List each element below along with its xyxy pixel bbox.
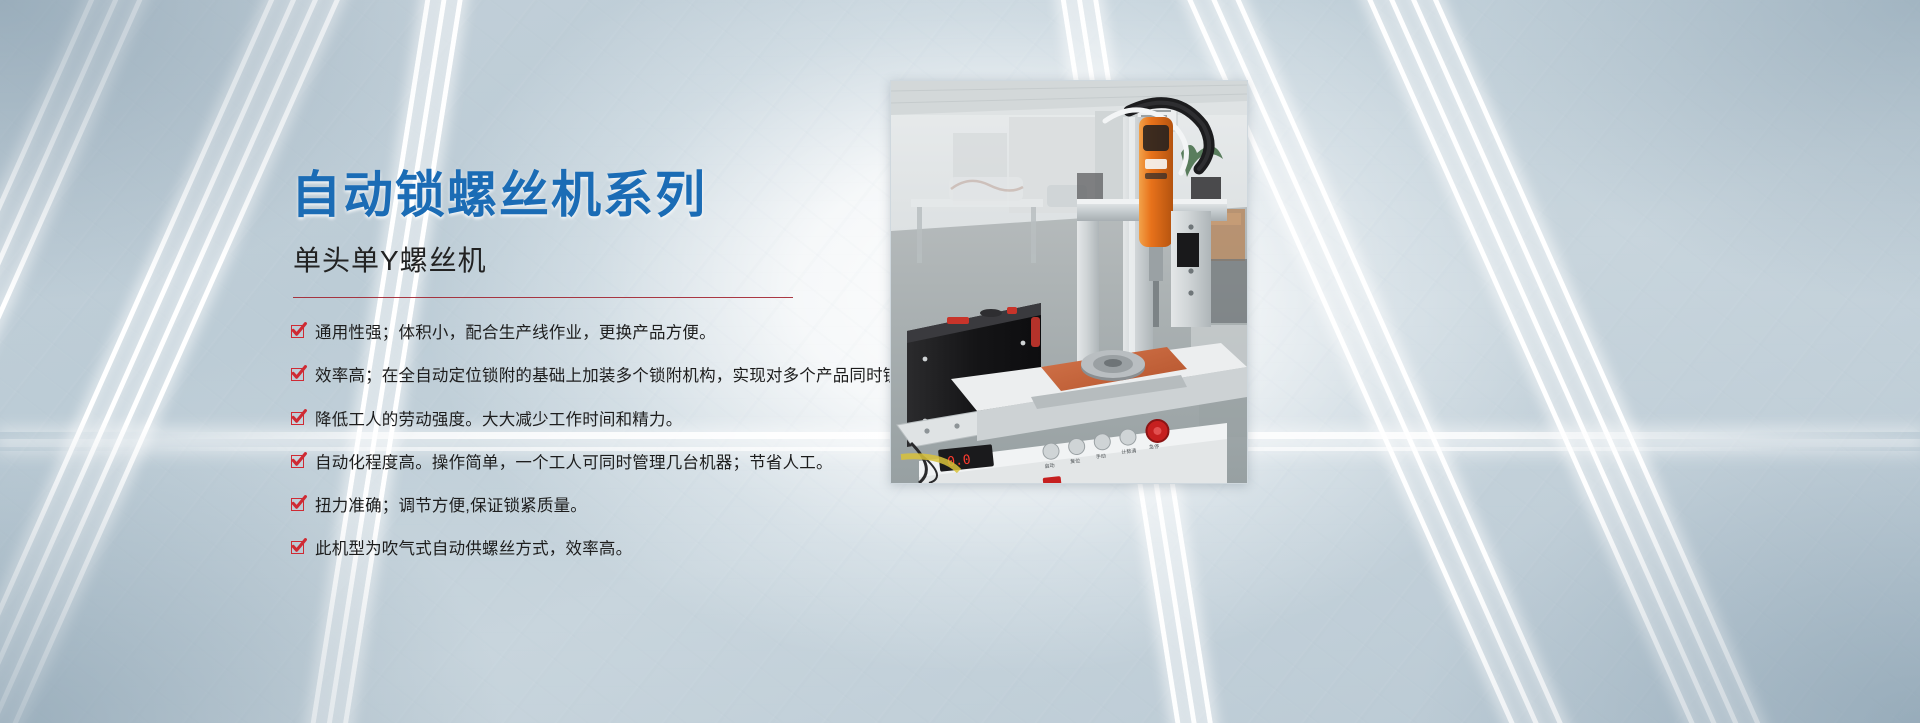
check-box-icon <box>291 325 304 338</box>
list-item: 此机型为吹气式自动供螺丝方式，效率高。 <box>291 538 891 560</box>
check-box-icon <box>291 498 304 511</box>
list-item: 自动化程度高。操作简单，一个工人可同时管理几台机器；节省人工。 <box>291 452 891 474</box>
banner-text-block: 自动锁螺丝机系列 单头单Y螺丝机 通用性强；体积小，配合生产线作业，更换产品方便… <box>291 168 891 582</box>
svg-text:急停: 急停 <box>1149 443 1160 451</box>
svg-text:启动: 启动 <box>1044 462 1055 470</box>
check-box-icon <box>291 541 304 554</box>
feature-text: 此机型为吹气式自动供螺丝方式，效率高。 <box>315 538 632 560</box>
list-item: 降低工人的劳动强度。大大减少工作时间和精力。 <box>291 409 891 431</box>
check-box-icon <box>291 368 304 381</box>
feature-list: 通用性强；体积小，配合生产线作业，更换产品方便。 效率高；在全自动定位锁附的基础… <box>291 322 891 561</box>
list-item: 通用性强；体积小，配合生产线作业，更换产品方便。 <box>291 322 891 344</box>
svg-text:复位: 复位 <box>1070 457 1081 465</box>
svg-text:手动: 手动 <box>1096 453 1107 461</box>
feature-text: 自动化程度高。操作简单，一个工人可同时管理几台机器；节省人工。 <box>315 452 833 474</box>
product-photo[interactable]: 0.0 启动复位 手动计数清 急停 <box>890 80 1248 484</box>
feature-text: 扭力准确；调节方便,保证锁紧质量。 <box>315 495 587 517</box>
product-banner: 自动锁螺丝机系列 单头单Y螺丝机 通用性强；体积小，配合生产线作业，更换产品方便… <box>0 0 1920 723</box>
check-box-icon <box>291 412 304 425</box>
page-title: 自动锁螺丝机系列 <box>291 168 891 223</box>
title-divider <box>293 297 793 298</box>
feature-text: 效率高；在全自动定位锁附的基础上加装多个锁附机构，实现对多个产品同时锁附。 <box>315 365 933 387</box>
product-subtitle: 单头单Y螺丝机 <box>293 239 891 279</box>
check-box-icon <box>291 455 304 468</box>
feature-text: 降低工人的劳动强度。大大减少工作时间和精力。 <box>315 409 682 431</box>
list-item: 效率高；在全自动定位锁附的基础上加装多个锁附机构，实现对多个产品同时锁附。 <box>291 365 891 387</box>
list-item: 扭力准确；调节方便,保证锁紧质量。 <box>291 495 891 517</box>
feature-text: 通用性强；体积小，配合生产线作业，更换产品方便。 <box>315 322 716 344</box>
